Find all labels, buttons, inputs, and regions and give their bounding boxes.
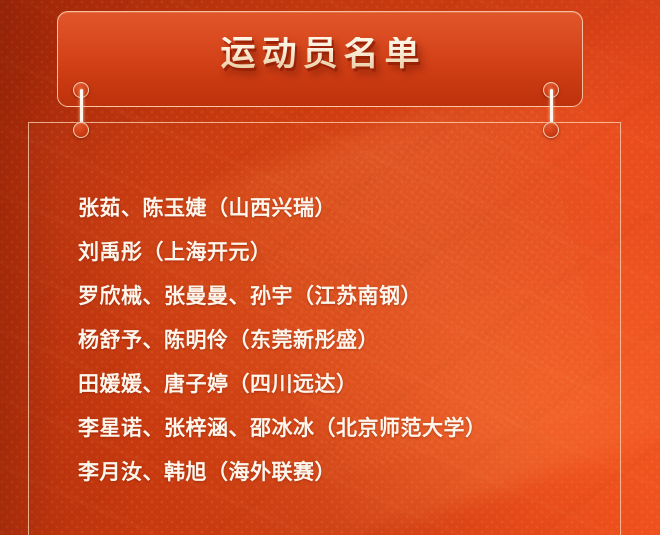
roster-line: 李月汝、韩旭（海外联赛） xyxy=(78,450,618,494)
roster-line: 杨舒予、陈明伶（东莞新彤盛） xyxy=(78,318,618,362)
roster-line: 罗欣械、张曼曼、孙宇（江苏南钢） xyxy=(78,274,618,318)
page-title: 运动员名单 xyxy=(214,37,425,72)
pin-left-bottom-knob xyxy=(73,122,89,138)
pin-right-bottom-knob xyxy=(543,122,559,138)
pin-right-icon xyxy=(540,82,562,138)
pin-left-icon xyxy=(70,82,92,138)
roster-list: 张茹、陈玉婕（山西兴瑞） 刘禹彤（上海开元） 罗欣械、张曼曼、孙宇（江苏南钢） … xyxy=(78,186,618,494)
roster-line: 刘禹彤（上海开元） xyxy=(78,230,618,274)
header-banner: 运动员名单 xyxy=(57,11,583,107)
roster-line: 李星诺、张梓涵、邵冰冰（北京师范大学） xyxy=(78,406,618,450)
roster-line: 田媛媛、唐子婷（四川远达） xyxy=(78,362,618,406)
roster-line: 张茹、陈玉婕（山西兴瑞） xyxy=(78,186,618,230)
